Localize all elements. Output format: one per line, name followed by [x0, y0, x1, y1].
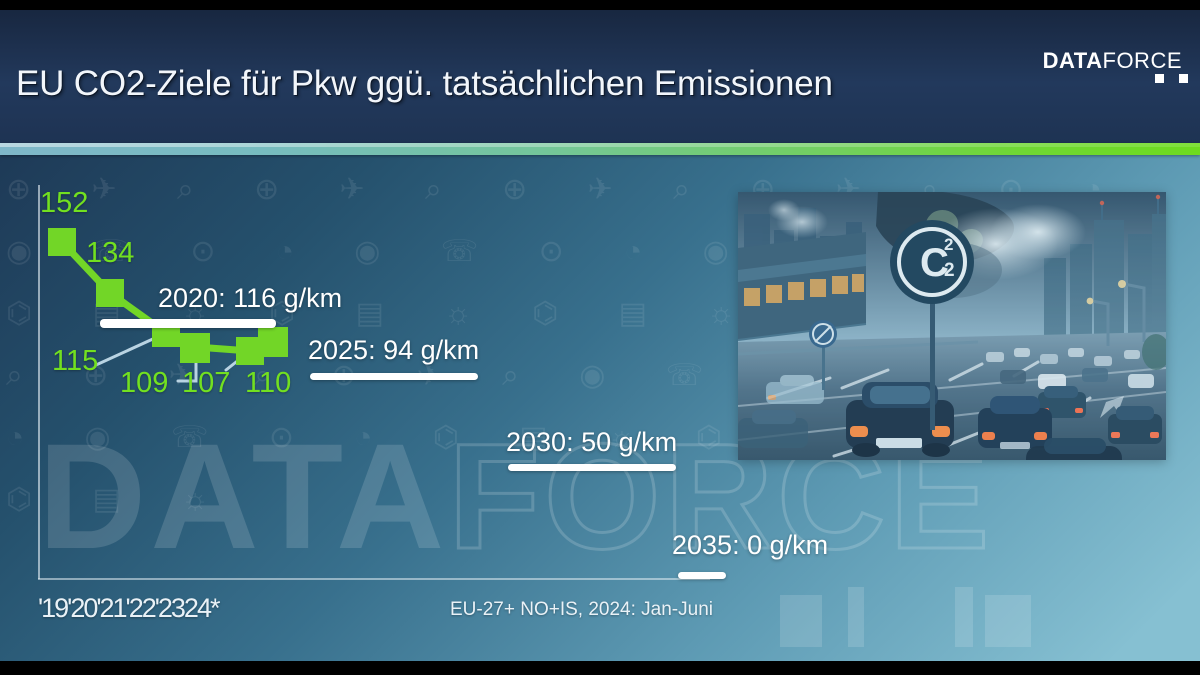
letterbox-bottom [0, 661, 1200, 675]
divider-sheen [0, 143, 1200, 147]
target-label-2035: 2035: 0 g/km [672, 530, 828, 561]
target-label-2025: 2025: 94 g/km [308, 335, 479, 366]
slide-root: EU CO2-Ziele für Pkw ggü. tatsächlichen … [0, 0, 1200, 675]
letterbox-top [0, 0, 1200, 10]
decorative-square-3 [955, 587, 973, 647]
target-bar-2030 [508, 464, 676, 471]
photo-svg: C 2 2 [738, 192, 1166, 460]
data-point-marker-4 [180, 333, 210, 363]
chart-footnote: EU-27+ NO+IS, 2024: Jan-Juni [450, 599, 713, 621]
data-label-5: 107 [182, 367, 230, 400]
slide-body: ⊕ ✈ ⌕ ⊕ ✈ ⌕ ⊕ ✈ ⌕ ⊕ ✈ ⌕ ⊙ ◔ ◉ ☏ ⊙ ◔ ◉ ☏ … [0, 155, 1200, 661]
target-label-2020: 2020: 116 g/km [158, 283, 342, 314]
data-label-4: 109 [120, 367, 168, 400]
accent-divider [0, 143, 1200, 155]
slide-header: EU CO2-Ziele für Pkw ggü. tatsächlichen … [0, 10, 1200, 143]
target-bar-2035 [678, 572, 726, 579]
highway-traffic-co2-illustration: C 2 2 [738, 192, 1166, 460]
data-label-2: 134 [86, 237, 134, 270]
data-point-marker-2 [96, 279, 124, 307]
data-point-marker-6 [258, 327, 288, 357]
data-label-1: 152 [40, 187, 88, 220]
data-label-6: 110 [245, 367, 291, 400]
target-bar-2025 [310, 373, 478, 380]
chart-series-line [0, 155, 760, 625]
logo-square-icon-2 [1179, 74, 1188, 83]
dataforce-logo: DATAFORCE [1043, 48, 1182, 82]
logo-light-part: FORCE [1103, 48, 1183, 73]
decorative-square-2 [848, 587, 864, 647]
data-label-3: 115 [52, 345, 98, 378]
logo-wordmark: DATAFORCE [1043, 48, 1182, 74]
chart-x-tick-labels: '19'20'21'22'2324* [38, 593, 218, 624]
logo-bold-part: DATA [1043, 48, 1103, 73]
decorative-square-1 [780, 595, 822, 647]
target-label-2030: 2030: 50 g/km [506, 427, 677, 458]
logo-square-icon-1 [1155, 74, 1164, 83]
decorative-square-4 [985, 595, 1031, 647]
page-title: EU CO2-Ziele für Pkw ggü. tatsächlichen … [16, 64, 833, 104]
data-point-marker-1 [48, 228, 76, 256]
target-bar-2020 [100, 319, 276, 328]
